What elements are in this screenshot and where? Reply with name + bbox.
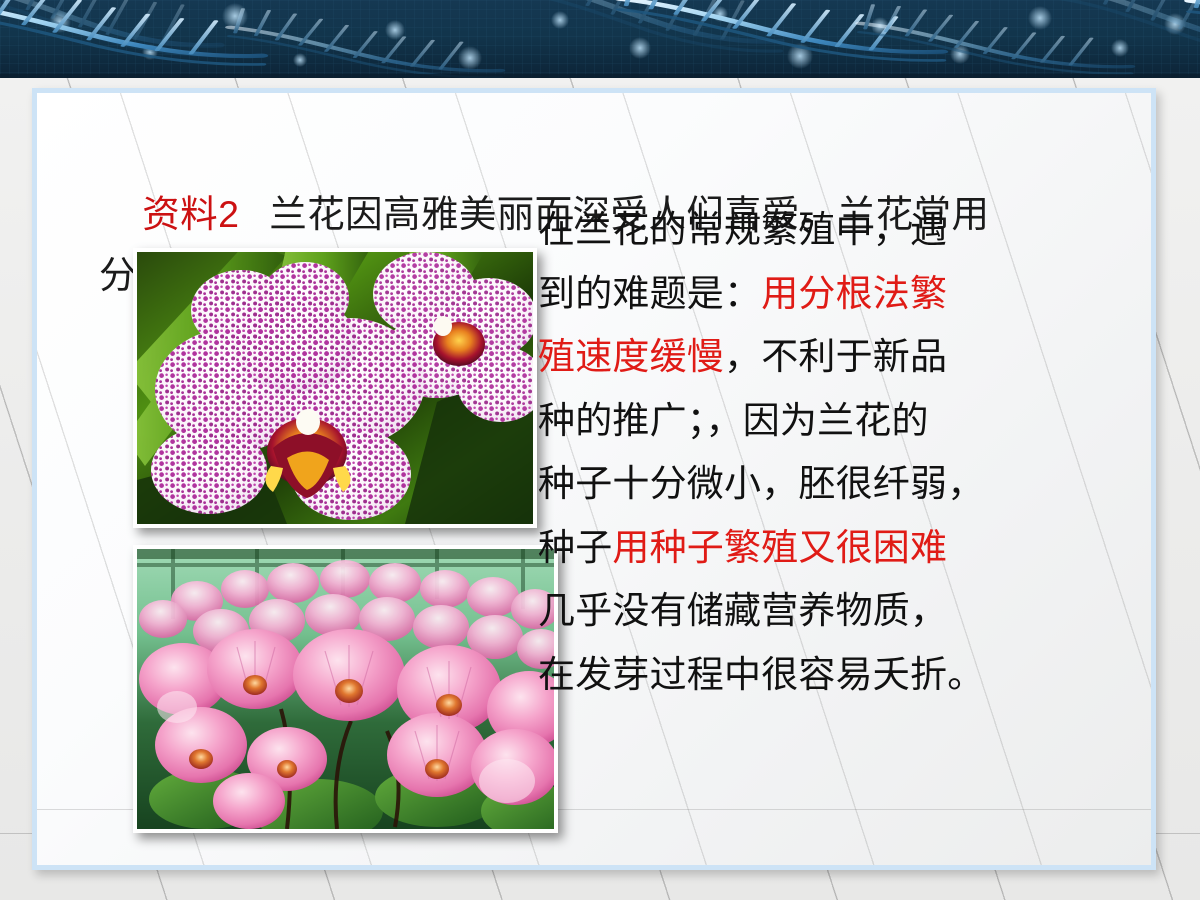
body-line-4: 种的推广；，因为兰花的: [538, 389, 1098, 453]
body-text-block: 在兰花的常规繁殖中，遇 到的难题是：用分根法繁 殖速度缓慢，不利于新品 种的推广…: [538, 198, 1098, 706]
body-line-7: 几乎没有储藏营养物质，: [538, 579, 1098, 643]
dna-helix-icon: [0, 0, 1200, 78]
resource-tag-label: 资料2: [142, 193, 239, 235]
body-line-1: 在兰花的常规繁殖中，遇: [538, 198, 1098, 262]
body-line-5: 种子十分微小，胚很纤弱，: [538, 452, 1098, 516]
body-line-6: 种子用种子繁殖又很困难: [538, 516, 1098, 580]
spotted-orchid-image: [137, 252, 533, 524]
spotted-orchid-photo: [133, 248, 537, 528]
body-line-8: 在发芽过程中很容易夭折。: [538, 643, 1098, 707]
body-line-2: 到的难题是：用分根法繁: [538, 262, 1098, 326]
pink-orchid-greenhouse-photo: [133, 545, 558, 833]
dna-helix-banner: [0, 0, 1200, 78]
body-line-3: 殖速度缓慢，不利于新品: [538, 325, 1098, 389]
pink-orchid-image: [137, 549, 554, 829]
